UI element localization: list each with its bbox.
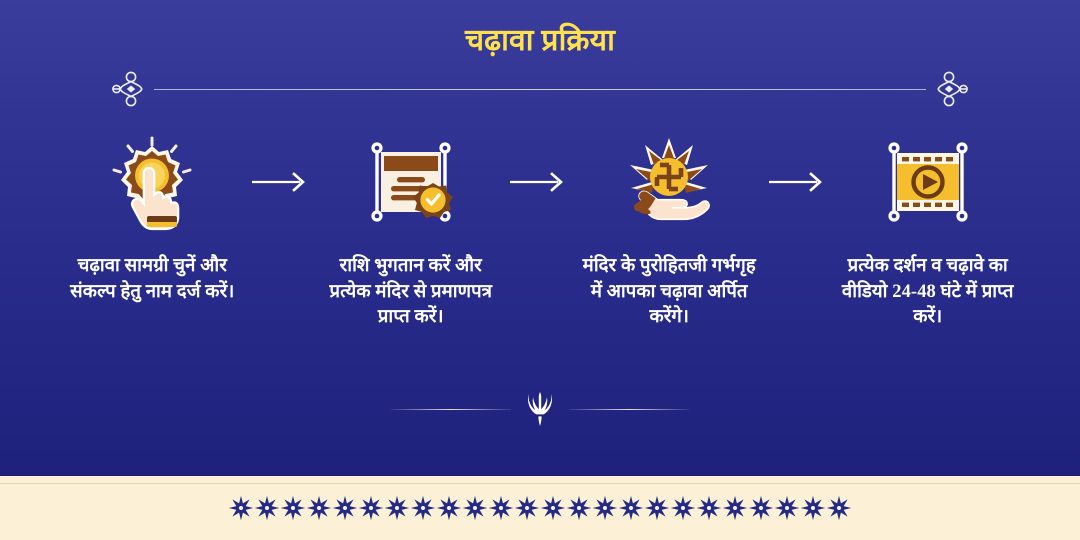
bottom-decorative-band <box>0 476 1080 540</box>
arrow-right-icon <box>508 171 572 193</box>
process-step-1: चढ़ावा सामग्री चुनें और संकल्प हेतु नाम … <box>60 132 245 305</box>
video-film-play-icon <box>878 132 978 232</box>
step-2-icon-slot <box>361 132 461 232</box>
arrow-right-icon <box>767 171 831 193</box>
eight-point-star-flower-icon <box>722 492 748 524</box>
decorative-knot-icon <box>108 70 154 108</box>
step-3-caption: मंदिर के पुरोहितजी गर्भगृह में आपका चढ़ा… <box>577 254 762 331</box>
eight-point-star-flower-icon <box>748 492 774 524</box>
eight-point-star-flower-icon <box>228 492 254 524</box>
decorative-knot-icon <box>926 70 972 108</box>
step-arrow-2 <box>503 132 577 232</box>
step-1-caption: चढ़ावा सामग्री चुनें और संकल्प हेतु नाम … <box>60 254 245 305</box>
eight-point-star-flower-icon <box>774 492 800 524</box>
eight-point-star-flower-icon <box>332 492 358 524</box>
eight-point-star-flower-icon <box>280 492 306 524</box>
process-steps-row: चढ़ावा सामग्री चुनें और संकल्प हेतु नाम … <box>60 132 1020 331</box>
eight-point-star-flower-icon <box>384 492 410 524</box>
star-motif-row <box>0 476 1080 540</box>
eight-point-star-flower-icon <box>358 492 384 524</box>
eight-point-star-flower-icon <box>436 492 462 524</box>
eight-point-star-flower-icon <box>254 492 280 524</box>
eight-point-star-flower-icon <box>566 492 592 524</box>
title-container: चढ़ावा प्रक्रिया <box>0 24 1080 57</box>
eight-point-star-flower-icon <box>410 492 436 524</box>
step-3-icon-slot <box>619 132 719 232</box>
eight-point-star-flower-icon <box>540 492 566 524</box>
eight-point-star-flower-icon <box>592 492 618 524</box>
certificate-seal-icon <box>361 132 461 232</box>
trishul-divider <box>0 392 1080 426</box>
top-ornamental-divider <box>108 70 972 108</box>
hand-offering-swastika-icon <box>619 132 719 232</box>
process-step-2: राशि भुगतान करें और प्रत्येक मंदिर से प्… <box>319 132 504 331</box>
offering-process-infographic: चढ़ावा प्रक्रिया <box>0 0 1080 540</box>
eight-point-star-flower-icon <box>826 492 852 524</box>
eight-point-star-flower-icon <box>644 492 670 524</box>
divider-line-right <box>569 409 689 410</box>
tap-select-offering-icon <box>102 132 202 232</box>
step-arrow-1 <box>245 132 319 232</box>
trishul-icon <box>525 392 555 426</box>
eight-point-star-flower-icon <box>618 492 644 524</box>
step-2-caption: राशि भुगतान करें और प्रत्येक मंदिर से प्… <box>319 254 504 331</box>
arrow-right-icon <box>250 171 314 193</box>
page-title: चढ़ावा प्रक्रिया <box>0 24 1080 57</box>
eight-point-star-flower-icon <box>514 492 540 524</box>
horizontal-rule <box>154 89 926 90</box>
step-4-caption: प्रत्येक दर्शन व चढ़ावे का वीडियो 24-48 … <box>836 254 1021 331</box>
eight-point-star-flower-icon <box>696 492 722 524</box>
process-step-4: प्रत्येक दर्शन व चढ़ावे का वीडियो 24-48 … <box>836 132 1021 331</box>
step-arrow-3 <box>762 132 836 232</box>
divider-line-left <box>391 409 511 410</box>
eight-point-star-flower-icon <box>462 492 488 524</box>
eight-point-star-flower-icon <box>488 492 514 524</box>
step-4-icon-slot <box>878 132 978 232</box>
process-step-3: मंदिर के पुरोहितजी गर्भगृह में आपका चढ़ा… <box>577 132 762 331</box>
step-1-icon-slot <box>102 132 202 232</box>
eight-point-star-flower-icon <box>670 492 696 524</box>
eight-point-star-flower-icon <box>306 492 332 524</box>
eight-point-star-flower-icon <box>800 492 826 524</box>
